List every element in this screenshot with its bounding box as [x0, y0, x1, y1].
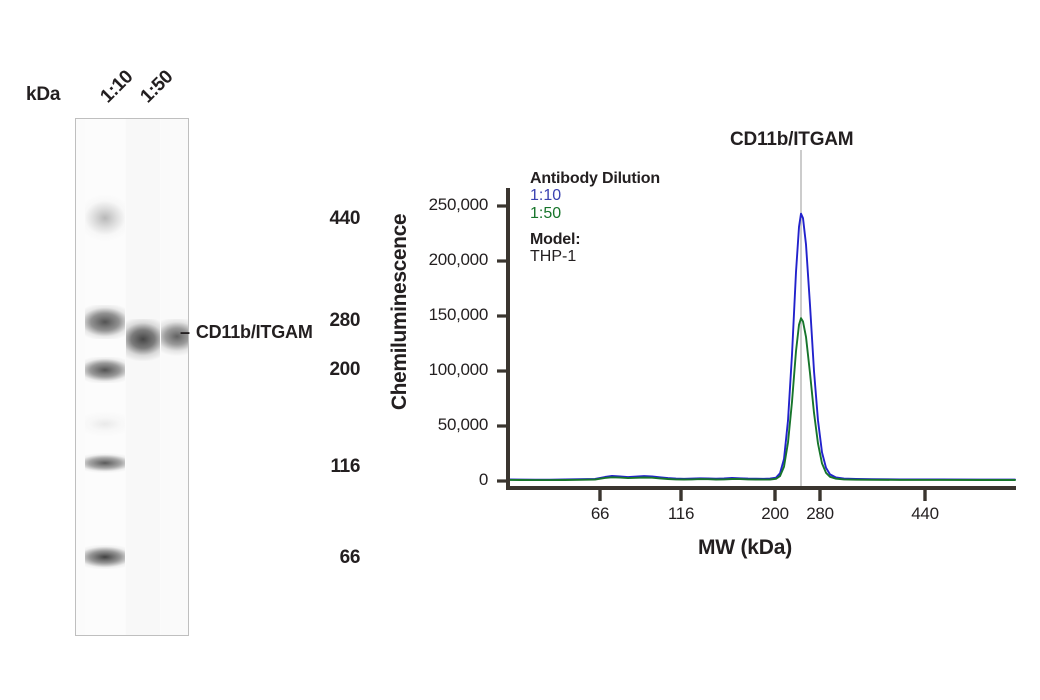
marker-band-116: [85, 453, 125, 473]
mw-marker-label-116: 116: [298, 456, 360, 478]
figure-canvas: kDa 1:10 1:50 440 280 200 116 66: [0, 0, 1040, 700]
blot-lane-marker: [85, 119, 125, 635]
chart-title: CD11b/ITGAM: [730, 129, 853, 151]
blot-membrane: [75, 118, 189, 636]
kda-axis-header: kDa: [26, 84, 60, 106]
blot-lane-1-10: [126, 119, 160, 635]
blot-lane-1-50: [161, 119, 189, 635]
x-tick-label-116: 116: [646, 504, 716, 524]
legend-model-heading: Model:: [530, 231, 660, 248]
y-tick-label-50000: 50,000: [358, 415, 488, 435]
legend-heading: Antibody Dilution: [530, 170, 660, 187]
marker-band-280: [85, 305, 125, 339]
legend-model-value: THP-1: [530, 248, 660, 265]
y-tick-label-100000: 100,000: [358, 360, 488, 380]
chart-plot-area: [355, 0, 1040, 700]
callout-label: CD11b/ITGAM: [196, 322, 313, 342]
y-tick-label-150000: 150,000: [358, 305, 488, 325]
legend-series-1-10: 1:10: [530, 187, 660, 204]
y-tick-label-200000: 200,000: [358, 250, 488, 270]
y-tick-label-250000: 250,000: [358, 195, 488, 215]
mw-marker-label-200: 200: [298, 359, 360, 381]
legend-series-1-50: 1:50: [530, 205, 660, 222]
lane-header-1-50: 1:50: [136, 66, 178, 108]
mw-marker-label-66: 66: [298, 547, 360, 569]
marker-band-66: [85, 545, 125, 569]
sample-band-1-10: [126, 319, 160, 361]
mw-marker-label-440: 440: [298, 208, 360, 230]
marker-band-150-faint: [85, 411, 125, 437]
callout-dash-icon: –: [180, 322, 190, 343]
x-tick-label-440: 440: [890, 504, 960, 524]
y-tick-label-0: 0: [358, 470, 488, 490]
x-tick-label-66: 66: [565, 504, 635, 524]
marker-band-440: [85, 195, 125, 241]
chart-legend: Antibody Dilution 1:10 1:50 Model: THP-1: [530, 170, 660, 265]
marker-band-200: [85, 357, 125, 383]
x-tick-label-280: 280: [785, 504, 855, 524]
western-blot-panel: kDa 1:10 1:50 440 280 200 116 66: [0, 0, 360, 700]
x-axis-title: MW (kDa): [615, 536, 875, 560]
blot-band-callout: –CD11b/ITGAM: [180, 322, 313, 343]
chart-trace-1-50: [508, 318, 1015, 480]
chemiluminescence-chart-panel: CD11b/ITGAM Chemiluminescence MW (kDa) A…: [355, 0, 1040, 700]
lane-header-1-10: 1:10: [96, 66, 138, 108]
